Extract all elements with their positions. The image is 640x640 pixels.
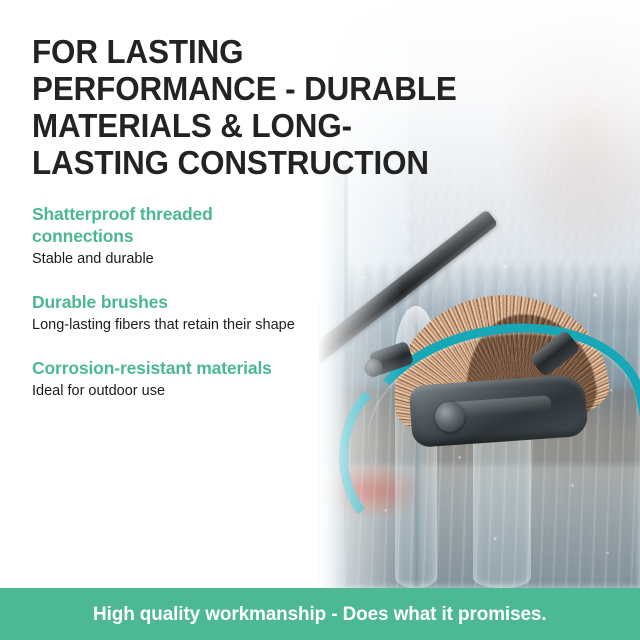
feature-description: Long-lasting fibers that retain their sh… [32, 316, 300, 335]
feature-title: Durable brushes [32, 291, 300, 313]
feature-item-durable-brushes: Durable brushes Long-lasting fibers that… [32, 291, 300, 335]
feature-title: Shatterproof threaded connections [32, 203, 300, 247]
feature-title: Corrosion-resistant materials [32, 357, 300, 379]
feature-item-corrosion-resistant-materials: Corrosion-resistant materials Ideal for … [32, 357, 300, 401]
feature-description: Ideal for outdoor use [32, 382, 300, 401]
product-feature-poster: FOR LASTING PERFORMANCE - DURABLE MATERI… [0, 0, 640, 640]
footer-tagline: High quality workmanship - Does what it … [93, 603, 546, 626]
feature-list: Shatterproof threaded connections Stable… [32, 203, 300, 401]
feature-description: Stable and durable [32, 250, 300, 269]
footer-banner: High quality workmanship - Does what it … [0, 588, 640, 640]
feature-item-shatterproof-threaded-connections: Shatterproof threaded connections Stable… [32, 203, 300, 269]
page-title: FOR LASTING PERFORMANCE - DURABLE MATERI… [32, 33, 479, 181]
